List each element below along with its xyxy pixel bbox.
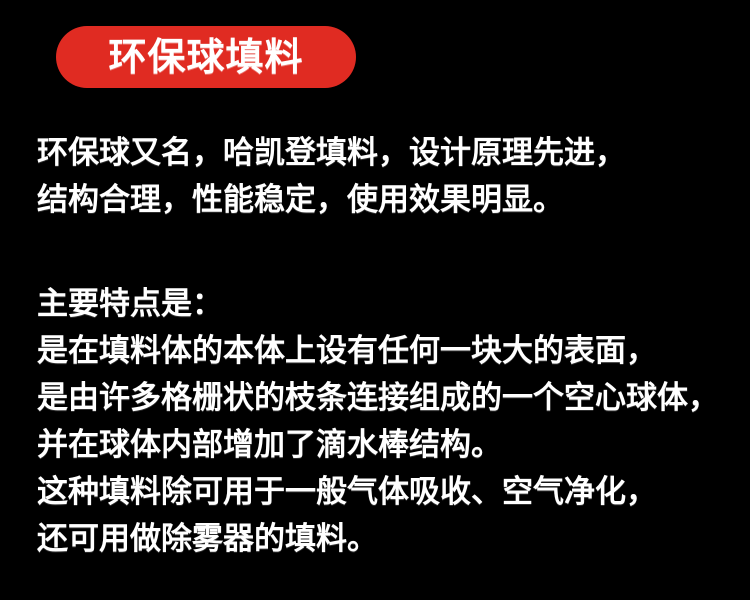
copy-line: 结构合理，性能稳定，使用效果明显。	[37, 177, 737, 224]
paragraph-intro: 环保球又名，哈凯登填料，设计原理先进， 结构合理，性能稳定，使用效果明显。	[37, 130, 737, 224]
page-title: 环保球填料	[108, 38, 303, 76]
product-description-banner: 环保球填料 环保球又名，哈凯登填料，设计原理先进， 结构合理，性能稳定，使用效果…	[0, 0, 750, 600]
paragraph-spacer	[37, 224, 737, 281]
copy-line: 还可用做除雾器的填料。	[37, 516, 737, 563]
body-copy: 环保球又名，哈凯登填料，设计原理先进， 结构合理，性能稳定，使用效果明显。 主要…	[37, 130, 737, 563]
copy-line: 环保球又名，哈凯登填料，设计原理先进，	[37, 130, 737, 177]
title-badge: 环保球填料	[56, 26, 356, 88]
copy-line: 是在填料体的本体上设有任何一块大的表面，	[37, 328, 737, 375]
copy-line: 并在球体内部增加了滴水棒结构。	[37, 422, 737, 469]
paragraph-features: 主要特点是： 是在填料体的本体上设有任何一块大的表面， 是由许多格栅状的枝条连接…	[37, 281, 737, 563]
copy-line: 是由许多格栅状的枝条连接组成的一个空心球体，	[37, 375, 737, 422]
features-heading: 主要特点是：	[37, 281, 737, 328]
copy-line: 这种填料除可用于一般气体吸收、空气净化，	[37, 469, 737, 516]
